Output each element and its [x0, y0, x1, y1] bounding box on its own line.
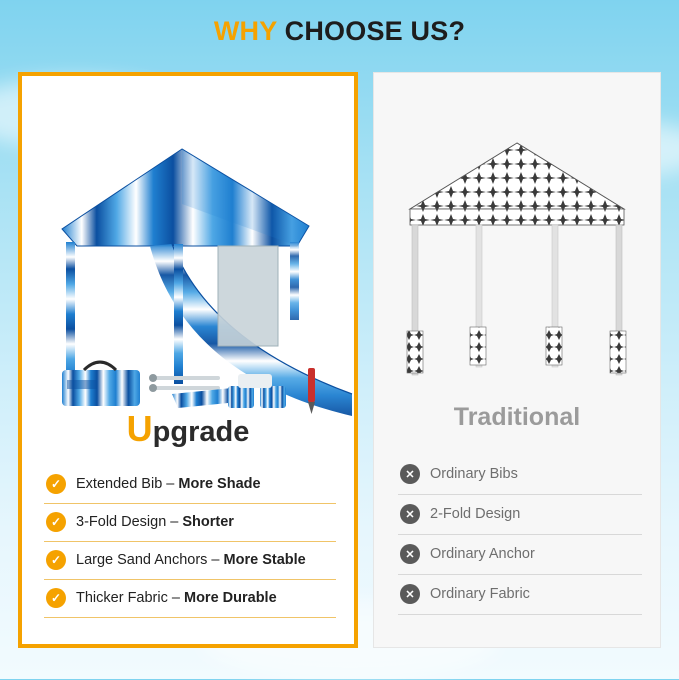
- comparison-panels: Upgrade ✓ Extended Bib – More Shade ✓ 3-…: [18, 72, 661, 652]
- list-item: ✓ Thicker Fabric – More Durable: [44, 580, 336, 618]
- upgrade-title-rest: pgrade: [153, 416, 250, 448]
- list-item: ✓ Extended Bib – More Shade: [44, 466, 336, 504]
- traditional-panel: Traditional ✕ Ordinary Bibs ✕ 2-Fold Des…: [373, 72, 661, 648]
- cross-icon: ✕: [400, 504, 420, 524]
- list-item: ✕ Ordinary Anchor: [398, 535, 642, 575]
- page-title-highlight: WHY: [214, 16, 277, 46]
- upgrade-panel: Upgrade ✓ Extended Bib – More Shade ✓ 3-…: [18, 72, 358, 648]
- feature-label: Thicker Fabric –: [76, 590, 184, 606]
- feature-label: Ordinary Fabric: [430, 586, 530, 602]
- check-icon: ✓: [46, 512, 66, 532]
- check-icon: ✓: [46, 474, 66, 494]
- check-icon: ✓: [46, 588, 66, 608]
- traditional-product-image: [374, 101, 660, 411]
- cross-icon: ✕: [400, 584, 420, 604]
- feature-label: 2-Fold Design: [430, 506, 520, 522]
- traditional-title: Traditional: [374, 403, 660, 432]
- list-item: ✓ 3-Fold Design – Shorter: [44, 504, 336, 542]
- feature-label: Large Sand Anchors –: [76, 552, 224, 568]
- feature-emphasis: More Shade: [178, 476, 260, 492]
- upgrade-feature-list: ✓ Extended Bib – More Shade ✓ 3-Fold Des…: [44, 466, 336, 618]
- page-title-rest: CHOOSE US?: [285, 16, 466, 46]
- upgrade-product-image: [22, 94, 354, 424]
- feature-label: Ordinary Bibs: [430, 466, 518, 482]
- feature-emphasis: Shorter: [182, 514, 234, 530]
- feature-label: Ordinary Anchor: [430, 546, 535, 562]
- list-item: ✕ Ordinary Fabric: [398, 575, 642, 615]
- list-item: ✓ Large Sand Anchors – More Stable: [44, 542, 336, 580]
- list-item: ✕ 2-Fold Design: [398, 495, 642, 535]
- upgrade-title-cap: U: [127, 408, 153, 449]
- list-item: ✕ Ordinary Bibs: [398, 455, 642, 495]
- cross-icon: ✕: [400, 464, 420, 484]
- page-title: WHY CHOOSE US?: [0, 16, 679, 47]
- feature-label: 3-Fold Design –: [76, 514, 182, 530]
- traditional-feature-list: ✕ Ordinary Bibs ✕ 2-Fold Design ✕ Ordina…: [398, 455, 642, 615]
- check-icon: ✓: [46, 550, 66, 570]
- cross-icon: ✕: [400, 544, 420, 564]
- upgrade-title: Upgrade: [22, 414, 354, 449]
- feature-emphasis: More Stable: [224, 552, 306, 568]
- feature-emphasis: More Durable: [184, 590, 277, 606]
- feature-label: Extended Bib –: [76, 476, 178, 492]
